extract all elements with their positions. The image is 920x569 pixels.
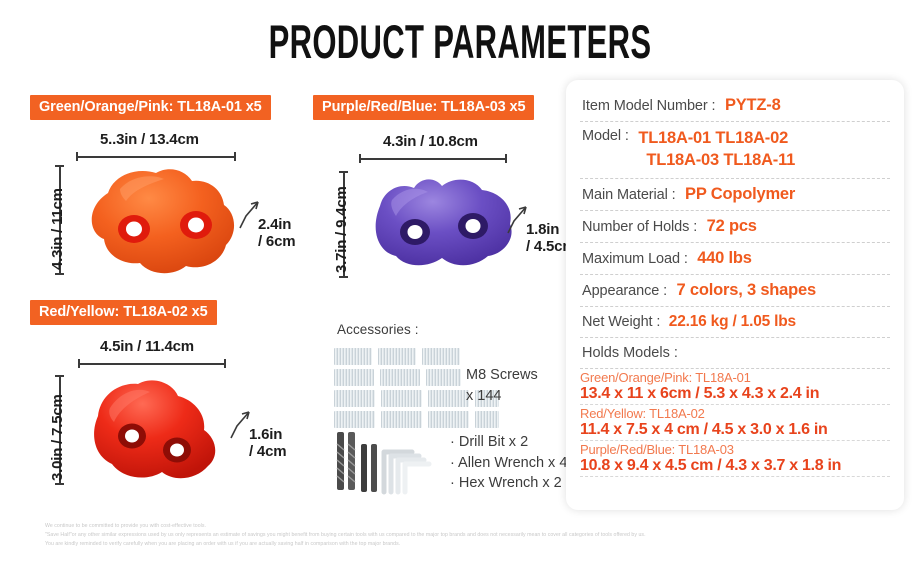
spec-label: Net Weight : [582,314,660,330]
spec-row-material: Main Material : PP Copolymer [580,179,890,211]
spec-value: 440 lbs [697,249,752,267]
hold-image-green-orange-pink [72,163,252,278]
hold-image-purple-red-blue [358,172,526,277]
card3-depth-label: 1.6in / 4cm [249,426,286,461]
allen-wrench-icon [384,452,429,492]
specifications-panel: Item Model Number : PYTZ-8 Model : TL18A… [566,80,904,510]
spec-value: PYTZ-8 [725,96,781,114]
spec-value: 7 colors, 3 shapes [677,281,816,299]
footer-line-3: You are kindly reminded to verify carefu… [45,540,845,549]
spec-label: Holds Models : [582,345,678,361]
spec-label: Number of Holds : [582,219,697,235]
holds-model-dimensions: 11.4 x 7.5 x 4 cm / 4.5 x 3.0 x 1.6 in [580,421,890,440]
footer-disclaimer: We continue to be committed to provide y… [45,522,845,549]
spec-row-max-load: Maximum Load : 440 lbs [580,243,890,275]
spec-label: Appearance : [582,283,667,299]
model-values-line-2: TL18A-03 TL18A-11 [646,150,795,172]
spec-label: Item Model Number : [582,98,715,114]
model-values-line-1: TL18A-01 TL18A-02 [638,128,795,150]
tool-item: · Drill Bit x 2 [450,432,567,453]
spec-label: Main Material : [582,187,676,203]
drill-bit-icon [337,432,355,490]
card1-width-label: 5..3in / 13.4cm [100,131,199,148]
holds-model-row-1: Green/Orange/Pink: TL18A-01 13.4 x 11 x … [580,369,890,405]
tools-illustration [334,430,444,507]
holds-model-dimensions: 10.8 x 9.4 x 4.5 cm / 4.3 x 3.7 x 1.8 in [580,457,890,476]
screws-label: M8 Screws x 144 [466,365,538,406]
screw-row [334,411,499,428]
spec-row-holds-count: Number of Holds : 72 pcs [580,211,890,243]
holds-model-row-2: Red/Yellow: TL18A-02 11.4 x 7.5 x 4 cm /… [580,405,890,441]
card3-height-label: 3.0in / 7.5cm [49,394,66,481]
infographic-page: PRODUCT PARAMETERS Green/Orange/Pink: TL… [0,0,920,569]
footer-line-1: We continue to be committed to provide y… [45,522,845,531]
tool-item: · Hex Wrench x 2 [450,473,567,494]
spec-row-holds-models-title: Holds Models : [580,338,890,369]
hold-image-red-yellow [74,372,234,490]
card2-width-label: 4.3in / 10.8cm [383,133,478,150]
tool-item: · Allen Wrench x 4 [450,453,567,474]
spec-value: 72 pcs [707,217,757,235]
spec-value: 22.16 kg / 1.05 lbs [669,313,796,330]
holds-model-name: Red/Yellow: TL18A-02 [580,405,890,421]
card1-width-dimension-line [76,152,236,161]
spec-row-net-weight: Net Weight : 22.16 kg / 1.05 lbs [580,307,890,338]
card2-height-label: 3.7in / 9.4cm [333,186,350,273]
card1-height-label: 4.3in / 11cm [49,188,66,270]
holds-model-dimensions: 13.4 x 11 x 6cm / 5.3 x 4.3 x 2.4 in [580,385,890,404]
card-badge-green-orange-pink: Green/Orange/Pink: TL18A-01 x5 [30,95,271,120]
card-badge-purple-red-blue: Purple/Red/Blue: TL18A-03 x5 [313,95,534,120]
holds-model-row-3: Purple/Red/Blue: TL18A-03 10.8 x 9.4 x 4… [580,441,890,477]
hex-wrench-icon [361,444,377,492]
tools-list: · Drill Bit x 2 · Allen Wrench x 4 · Hex… [450,432,567,494]
spec-label: Model : [582,128,629,144]
holds-model-name: Green/Orange/Pink: TL18A-01 [580,369,890,385]
page-title: PRODUCT PARAMETERS [156,14,763,69]
spec-row-model: Model : TL18A-01 TL18A-02 TL18A-03 TL18A… [580,122,890,179]
screw-row [334,348,499,365]
card2-width-dimension-line [359,154,507,163]
card1-depth-label: 2.4in / 6cm [258,216,295,251]
accessories-title: Accessories : [337,322,419,337]
spec-label: Maximum Load : [582,251,688,267]
holds-model-name: Purple/Red/Blue: TL18A-03 [580,441,890,457]
card3-width-dimension-line [78,359,226,368]
spec-value: PP Copolymer [685,185,795,203]
card3-width-label: 4.5in / 11.4cm [100,338,194,355]
spec-row-item-model: Item Model Number : PYTZ-8 [580,90,890,122]
spec-row-appearance: Appearance : 7 colors, 3 shapes [580,275,890,307]
footer-line-2: "Save Half"or any other similar expressi… [45,531,845,540]
card-badge-red-yellow: Red/Yellow: TL18A-02 x5 [30,300,217,325]
